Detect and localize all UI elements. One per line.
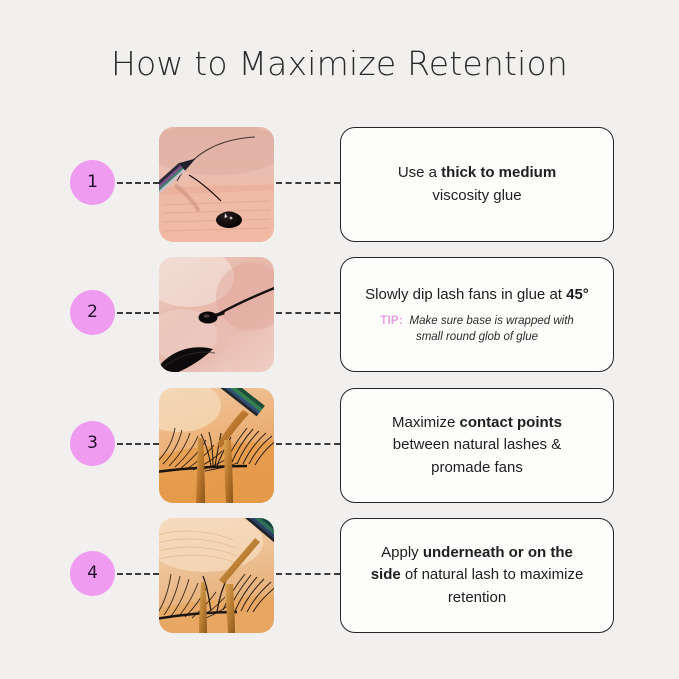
card-text-line: Slowly dip lash fans in glue at 45° [365, 284, 589, 306]
card-text-line: retention [371, 587, 584, 609]
card-text-line: between natural lashes & [392, 434, 562, 456]
card-text-line: side of natural lash to maximize [371, 564, 584, 586]
lash-fan-dipped-in-glue-photo [159, 257, 274, 372]
connector-image-to-card-2 [276, 312, 340, 314]
step-card-4: Apply underneath or on theside of natura… [340, 518, 614, 633]
connector-badge-to-image-4 [117, 573, 159, 575]
step-card-text-1: Use a thick to mediumviscosity glue [398, 162, 556, 206]
emphasis-text: 45° [566, 286, 589, 303]
step-number-label: 2 [87, 304, 98, 321]
contact-points-lash-fans-photo [159, 388, 274, 503]
connector-badge-to-image-1 [117, 182, 159, 184]
tip-text: Make sure base is wrapped with [410, 315, 574, 327]
plain-text: promade fans [431, 459, 523, 476]
step-card-tip-2: TIP: Make sure base is wrapped withsmall… [380, 313, 574, 346]
step-badge-4: 4 [70, 551, 115, 596]
card-text-line: promade fans [392, 457, 562, 479]
plain-text: Slowly dip lash fans in glue at [365, 286, 566, 303]
connector-badge-to-image-3 [117, 443, 159, 445]
connector-image-to-card-4 [276, 573, 340, 575]
emphasis-text: thick to medium [441, 164, 556, 181]
emphasis-text: underneath or on the [423, 544, 573, 561]
tweezers-lash-glue-drop-photo [159, 127, 274, 242]
step-card-2: Slowly dip lash fans in glue at 45° TIP:… [340, 257, 614, 372]
step-card-3: Maximize contact pointsbetween natural l… [340, 388, 614, 503]
tip-text: small round glob of glue [380, 329, 574, 345]
step-row-3: 3 [0, 381, 679, 511]
step-card-1: Use a thick to mediumviscosity glue [340, 127, 614, 242]
connector-image-to-card-1 [276, 182, 340, 184]
plain-text: Maximize [392, 414, 460, 431]
card-text-line: Use a thick to medium [398, 162, 556, 184]
connector-image-to-card-3 [276, 443, 340, 445]
emphasis-text: side [371, 566, 401, 583]
step-row-1: 1 [0, 120, 679, 250]
step-number-label: 4 [87, 565, 98, 582]
underneath-side-application-photo [159, 518, 274, 633]
step-image-4 [159, 518, 274, 633]
step-card-text-2: Slowly dip lash fans in glue at 45° [365, 284, 589, 306]
card-text-line: Apply underneath or on the [371, 542, 584, 564]
step-row-4: 4 [0, 511, 679, 641]
step-number-label: 3 [87, 435, 98, 452]
step-badge-1: 1 [70, 160, 115, 205]
plain-text: Apply [381, 544, 423, 561]
step-image-1 [159, 127, 274, 242]
plain-text: between natural lashes & [393, 436, 561, 453]
step-card-text-4: Apply underneath or on theside of natura… [371, 542, 584, 609]
step-badge-2: 2 [70, 290, 115, 335]
plain-text: Use a [398, 164, 441, 181]
step-row-2: 2 [0, 250, 679, 380]
page-title: How to Maximize Retention [0, 44, 679, 83]
step-badge-3: 3 [70, 421, 115, 466]
step-number-label: 1 [87, 174, 98, 191]
tip-first-line: TIP: Make sure base is wrapped with [380, 313, 574, 329]
connector-badge-to-image-2 [117, 312, 159, 314]
step-card-text-3: Maximize contact pointsbetween natural l… [392, 412, 562, 479]
emphasis-text: contact points [460, 414, 563, 431]
plain-text: viscosity glue [432, 187, 521, 204]
tip-label: TIP: [380, 315, 409, 327]
card-text-line: Maximize contact points [392, 412, 562, 434]
step-image-3 [159, 388, 274, 503]
card-text-line: viscosity glue [398, 185, 556, 207]
plain-text: of natural lash to maximize [401, 566, 584, 583]
step-image-2 [159, 257, 274, 372]
plain-text: retention [448, 589, 506, 606]
infographic-page: How to Maximize Retention 1 [0, 0, 679, 679]
